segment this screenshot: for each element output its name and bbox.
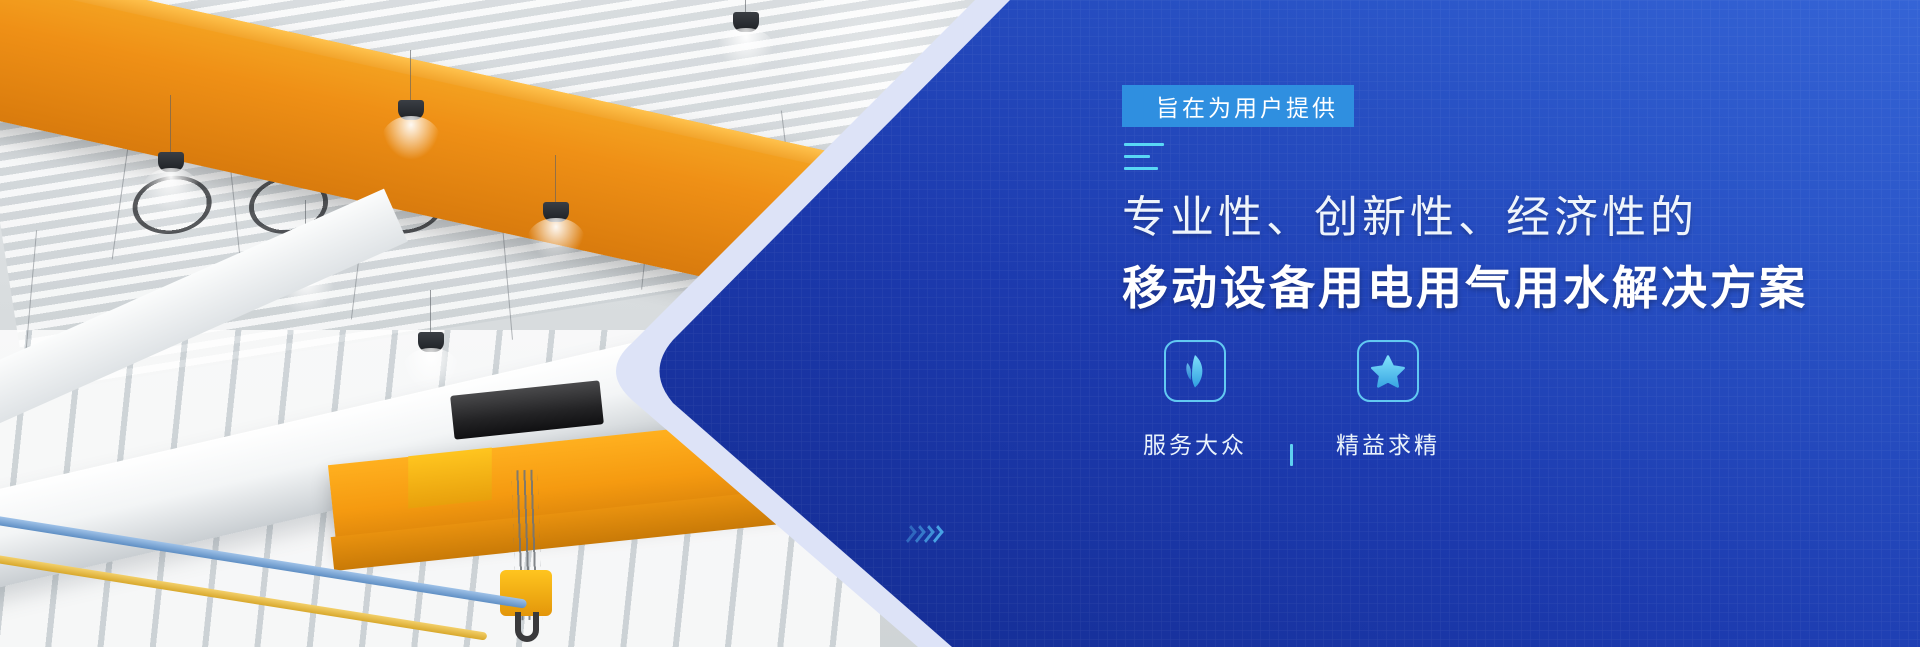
feature-item-service[interactable]: 服务大众 (1122, 340, 1268, 460)
decoration-line (1124, 167, 1158, 170)
decoration-line (1124, 143, 1164, 146)
feature-separator (1290, 444, 1293, 466)
headline-secondary: 移动设备用电用气用水解决方案 (1122, 252, 1808, 318)
star-icon (1369, 352, 1407, 390)
feature-item-excellence[interactable]: 精益求精 (1315, 340, 1461, 460)
star-icon-frame (1357, 340, 1419, 402)
leaf-icon-frame (1164, 340, 1226, 402)
feature-label: 服务大众 (1143, 426, 1247, 460)
feature-label: 精益求精 (1336, 426, 1440, 460)
blue-panel (0, 0, 1920, 647)
feature-list: 服务大众 (1122, 340, 1542, 466)
tagline-badge-label: 旨在为用户提供 (1156, 89, 1338, 123)
leaf-icon (1176, 352, 1214, 390)
hero-banner: 旨在为用户提供 专业性、创新性、经济性的 移动设备用电用气用水解决方案 (0, 0, 1920, 647)
decoration-line (1124, 155, 1150, 158)
tagline-badge: 旨在为用户提供 (1122, 85, 1354, 127)
headline-primary: 专业性、创新性、经济性的 (1122, 181, 1698, 245)
three-lines-decoration (1124, 143, 1194, 179)
